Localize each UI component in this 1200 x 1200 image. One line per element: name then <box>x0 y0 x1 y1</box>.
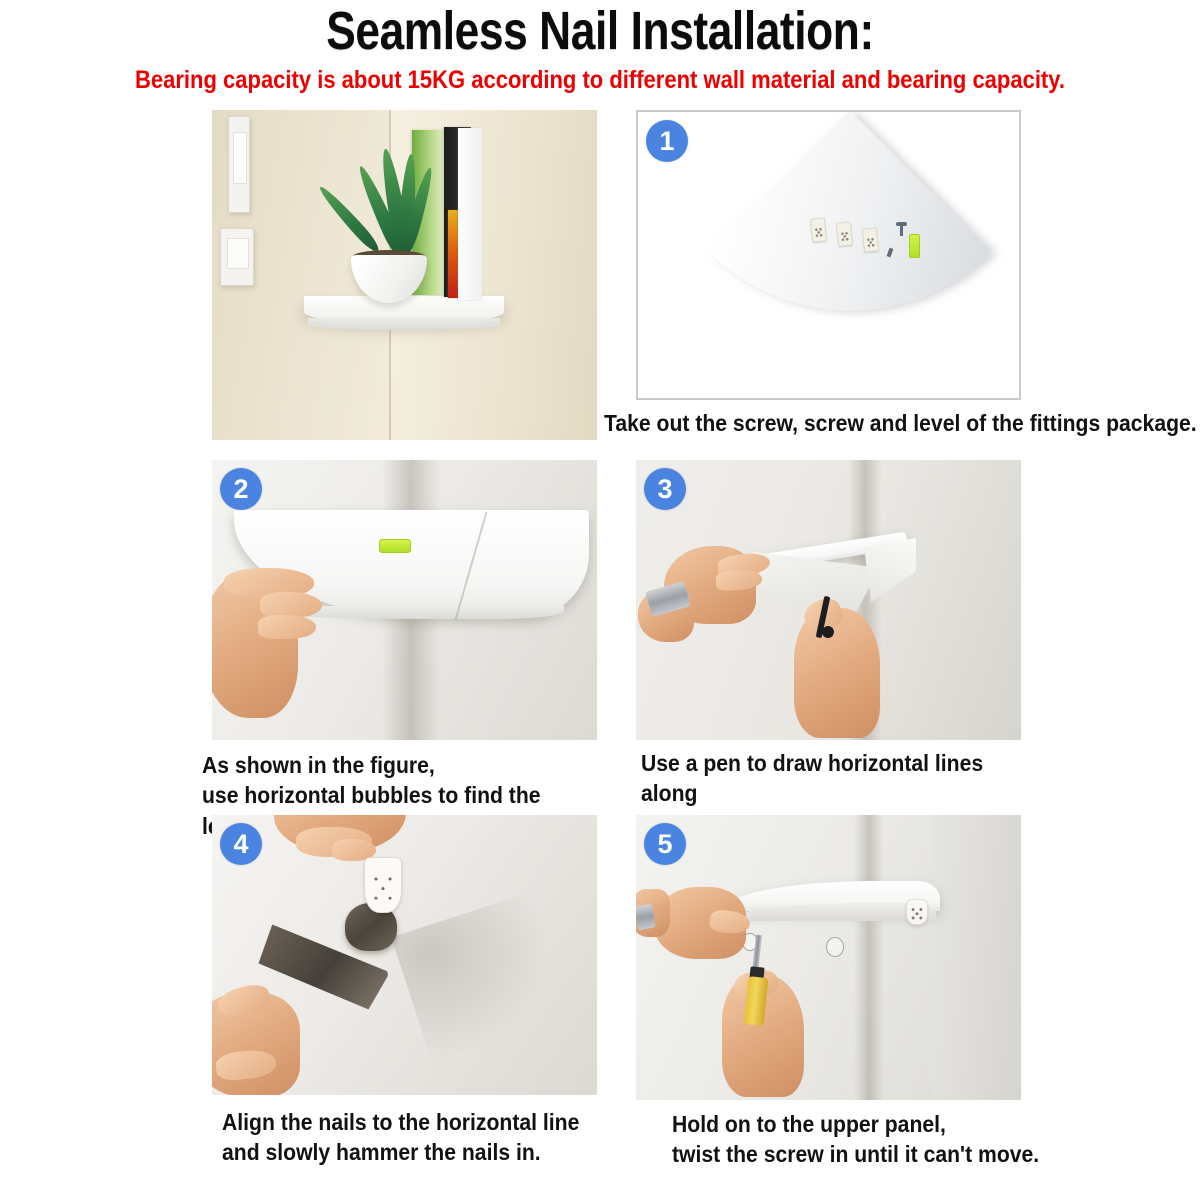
infographic-header: Seamless Nail Installation: Bearing capa… <box>0 0 1200 93</box>
step-1-photo: 1 <box>636 110 1021 400</box>
page-title: Seamless Nail Installation: <box>108 4 1092 59</box>
step-3-panel: 3 Use a pen to draw horizontal lines alo… <box>636 460 1021 740</box>
wall-socket-plate <box>228 116 250 213</box>
step-5-photo: 5 <box>636 815 1021 1100</box>
step-badge-4: 4 <box>220 823 262 865</box>
nail-plate-anchor <box>364 857 402 913</box>
book-spine-stripe <box>448 210 458 298</box>
step-badge-3: 3 <box>644 468 686 510</box>
middle-finger <box>258 615 316 639</box>
screw-shaft <box>900 225 903 236</box>
wall-right-plane <box>932 815 1021 1100</box>
bearing-capacity-note: Bearing capacity is about 15KG according… <box>72 67 1128 93</box>
step-2-photo: 2 <box>212 460 597 740</box>
step-4-panel: 4 Align the nails to the horizontal line… <box>212 815 597 1095</box>
step-badge-1: 1 <box>646 120 688 162</box>
hero-photo-canvas <box>212 110 597 440</box>
bubble-level <box>909 234 920 258</box>
corner-shelf-board <box>709 111 992 394</box>
step-3-photo: 3 <box>636 460 1021 740</box>
step-4-caption: Align the nails to the horizontal line a… <box>222 1107 618 1168</box>
step-1-panel: 1 Take out the screw, screw and level of… <box>636 110 1021 400</box>
wall-anchor-mark <box>826 937 844 957</box>
hero-product-photo <box>212 110 597 440</box>
step-badge-5: 5 <box>644 823 686 865</box>
wall-anchor-fitting <box>810 217 827 242</box>
pen-grip-mark <box>822 626 834 638</box>
wall-anchor-installed <box>906 899 928 925</box>
corner-shelf-edge <box>308 318 500 330</box>
index-finger <box>260 592 322 618</box>
book-white <box>458 128 482 300</box>
step-4-photo: 4 <box>212 815 597 1095</box>
wall-anchor-fitting <box>836 221 853 246</box>
step-badge-2: 2 <box>220 468 262 510</box>
wall-corner-shadow <box>854 815 884 1100</box>
step-2-panel: 2 As shown in the figure, use horizontal… <box>212 460 597 740</box>
steps-grid: 1 Take out the screw, screw and level of… <box>0 110 1200 1200</box>
wall-anchor-fitting <box>862 227 879 252</box>
light-switch-plate <box>220 228 254 286</box>
step-5-panel: 5 Hold on to the upper panel, twist the … <box>636 815 1021 1100</box>
step-5-caption: Hold on to the upper panel, twist the sc… <box>672 1109 1068 1170</box>
step-1-caption: Take out the screw, screw and level of t… <box>604 408 1000 438</box>
bubble-level <box>379 539 411 553</box>
